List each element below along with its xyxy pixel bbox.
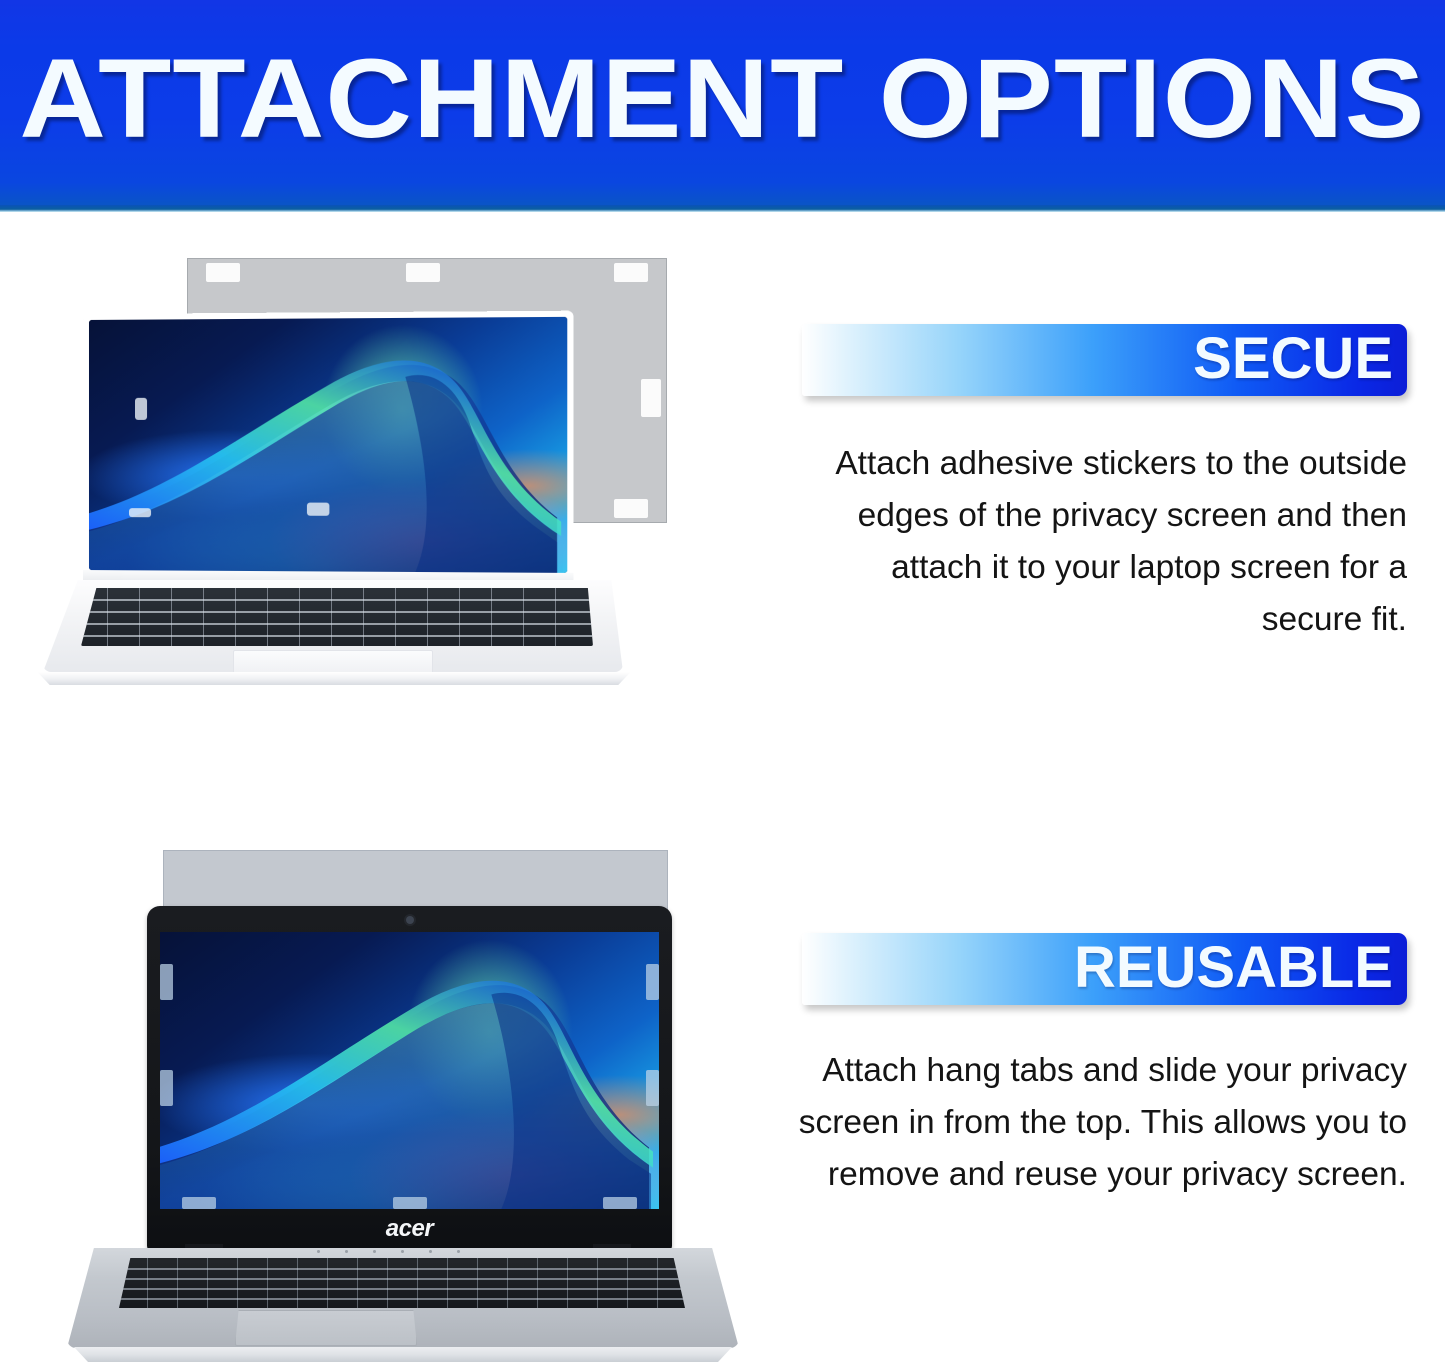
section-reusable: acer (0, 845, 1445, 1364)
laptop-keyboard (119, 1258, 685, 1308)
badge-reusable: REUSABLE (802, 933, 1407, 1005)
adhesive-sticker-tab (614, 499, 648, 518)
laptop-keyboard (81, 588, 593, 646)
reusable-description: Attach hang tabs and slide your privacy … (790, 1045, 1407, 1201)
laptop-touchpad (235, 1310, 417, 1346)
badge-secure-label: SECUE (1193, 330, 1393, 388)
reusable-laptop-visual: acer (0, 845, 790, 1364)
brand-logo-acer: acer (147, 1215, 672, 1243)
hang-tab (182, 1197, 216, 1209)
wallpaper-ribbon (160, 932, 659, 1209)
badge-reusable-label: REUSABLE (1074, 939, 1393, 997)
section-secure: SECUE Attach adhesive stickers to the ou… (0, 240, 1445, 800)
hang-tab (393, 1197, 427, 1209)
hang-tab (646, 1070, 659, 1106)
wallpaper-ribbon (89, 317, 567, 573)
adhesive-sticker-tab (641, 379, 661, 417)
secure-description: Attach adhesive stickers to the outside … (790, 438, 1407, 646)
badge-secure: SECUE (802, 324, 1407, 396)
secure-laptop-visual (0, 240, 790, 800)
adhesive-sticker-on-screen (129, 508, 151, 517)
laptop-white (35, 250, 755, 780)
laptop-lid: acer (147, 906, 672, 1251)
hang-tab (160, 964, 173, 1000)
privacy-screen-hangtab-overhang (163, 850, 668, 912)
laptop-bezel-top (147, 906, 672, 932)
laptop-front-lip (25, 672, 643, 685)
laptop-acer: acer (45, 850, 745, 1362)
header-banner: ATTACHMENT OPTIONS (0, 0, 1445, 212)
adhesive-sticker-on-screen (135, 398, 147, 420)
laptop-lid (83, 311, 574, 590)
webcam-icon (406, 916, 414, 924)
adhesive-sticker-tab (206, 263, 240, 282)
laptop-base (67, 1248, 739, 1362)
hang-tab (160, 1070, 173, 1106)
laptop-front-lip (53, 1347, 753, 1362)
laptop-display (89, 317, 567, 573)
reusable-text-column: REUSABLE Attach hang tabs and slide your… (790, 845, 1445, 1364)
laptop-display (160, 932, 659, 1209)
adhesive-sticker-tab (406, 263, 440, 282)
page-title: ATTACHMENT OPTIONS (0, 40, 1445, 158)
adhesive-sticker-tab (614, 263, 648, 282)
status-indicator-lights (317, 1250, 497, 1254)
secure-text-column: SECUE Attach adhesive stickers to the ou… (790, 240, 1445, 800)
laptop-touchpad (233, 650, 433, 674)
hang-tab (603, 1197, 637, 1209)
banner-bottom-edge (0, 205, 1445, 212)
adhesive-sticker-on-screen (307, 503, 329, 516)
hang-tab (646, 964, 659, 1000)
laptop-base (43, 580, 623, 692)
